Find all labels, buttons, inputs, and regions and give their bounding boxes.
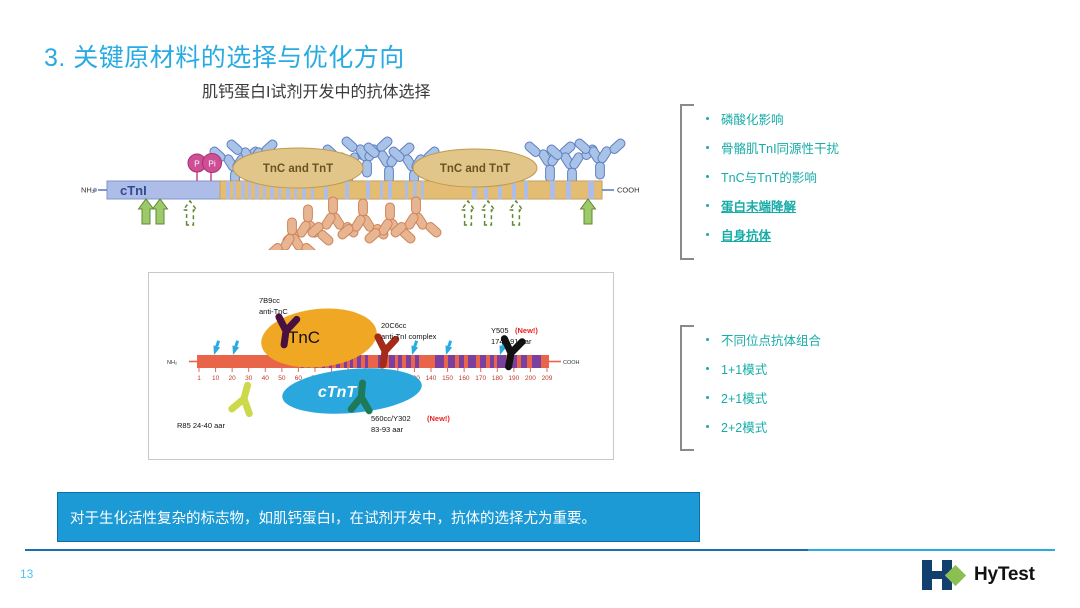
annotation-20c6cc-line1: 20C6cc [381,321,407,330]
bullet-dot-icon [706,146,709,149]
axis-tick-label: 209 [542,375,553,382]
bullet-label: 骨骼肌TnI同源性干扰 [721,138,839,157]
hytest-wordmark: HyTest [974,564,1035,586]
bullet-dot-icon [706,396,709,399]
annotation-y505-new-tag: (New!) [515,326,538,335]
annotation-560cc-line2: 83-93 aar [371,425,404,434]
bullet-dot-icon [706,425,709,428]
figure-top-cooh-label: COOH [617,186,640,195]
annotation-560cc-line1: 560cc/Y302 [371,414,411,423]
list-item[interactable]: 2+1模式 [706,383,920,412]
tnc-label: TnC [288,328,320,347]
annotation-7b9cc-line2: anti-TnC [259,307,288,316]
bullet-dot-icon [706,338,709,341]
bullet-label: 2+2模式 [721,417,767,436]
bullet-dot-icon [706,117,709,120]
page-number: 13 [20,567,33,581]
ctni-bar-label: cTnI [120,183,147,198]
bullet-list: 不同位点抗体组合 1+1模式 2+1模式 2+2模式 [680,325,920,441]
page-subtitle: 肌钙蛋白I试剂开发中的抗体选择 [202,78,430,102]
phospho-label-p: P [194,159,200,169]
group-bracket [680,104,694,260]
bullet-dot-icon [706,204,709,207]
axis-tick-label: 40 [262,375,270,382]
summary-callout-box: 对于生化活性复杂的标志物，如肌钙蛋白I，在试剂开发中，抗体的选择尤为重要。 [57,492,700,542]
list-item[interactable]: 骨骼肌TnI同源性干扰 [706,133,920,162]
axis-tick-label: 150 [442,375,453,382]
footer-divider [25,549,1055,551]
summary-callout-text: 对于生化活性复杂的标志物，如肌钙蛋白I，在试剂开发中，抗体的选择尤为重要。 [58,507,596,528]
bullet-label: 不同位点抗体组合 [721,330,821,349]
antibody-r85-glyph [232,383,256,414]
axis-tick-label: 1 [197,375,201,382]
annotation-r85-line1: R85 24-40 aar [177,421,225,430]
tnc-tnt-label-left: TnC and TnT [263,163,333,175]
ctni-epitope-map-svg: COOH NH₂ cTnI P Pi TnC and TnT TnC and T… [80,100,660,250]
axis-tick-label: 160 [459,375,470,382]
page-title: 3. 关键原材料的选择与优化方向 [44,38,405,74]
bullet-label: TnC与TnT的影响 [721,167,817,186]
annotation-7b9cc-line1: 7B9cc [259,296,280,305]
phospho-label-pi: Pi [208,159,216,169]
annotation-20c6cc-line2: anti-TnI complex [381,332,437,341]
ctni-backbone-bar: COOH NH₂ cTnI [81,181,640,199]
annotation-y505-line2: 174-191 aar [491,337,532,346]
bullet-list: 磷酸化影响 骨骼肌TnI同源性干扰 TnC与TnT的影响 蛋白末端降解 自身抗体 [680,104,920,249]
bullet-dot-icon [706,233,709,236]
tnc-tnt-complex-left: TnC and TnT [233,148,363,188]
annotation-560cc-new-tag: (New!) [427,414,450,423]
axis-tick-label: 20 [229,375,237,382]
axis-tick-label: 50 [278,375,286,382]
axis-tick-label: 140 [426,375,437,382]
axis-tick-label: 190 [508,375,519,382]
list-item[interactable]: 自身抗体 [706,220,920,249]
axis-tick-label: 180 [492,375,503,382]
bullet-dot-icon [706,175,709,178]
antibody-orange-group [265,197,442,250]
ctni-epitope-map-figure: COOH NH₂ cTnI P Pi TnC and TnT TnC and T… [80,100,660,250]
bullet-group-pairing-modes: 不同位点抗体组合 1+1模式 2+1模式 2+2模式 [680,325,920,447]
figure-top-nh2-label: NH₂ [81,186,95,195]
list-item[interactable]: 不同位点抗体组合 [706,325,920,354]
hytest-k-mark-icon [918,557,970,593]
axis-tick-label: 200 [525,375,536,382]
phosphorylation-markers: P Pi [188,154,222,182]
tnc-tnt-label-right: TnC and TnT [440,163,510,175]
annotation-y505-line1: Y505 [491,326,509,335]
list-item[interactable]: 磷酸化影响 [706,104,920,133]
axis-tick-label: 30 [245,375,253,382]
list-item[interactable]: 1+1模式 [706,354,920,383]
bullet-group-challenges: 磷酸化影响 骨骼肌TnI同源性干扰 TnC与TnT的影响 蛋白末端降解 自身抗体 [680,104,920,256]
ctnt-label: cTnT [318,384,357,401]
figure-bottom-nh2-label: NH₂ [167,360,177,366]
axis-tick-label: 170 [475,375,486,382]
bullet-label: 蛋白末端降解 [721,196,796,215]
bullet-label: 磷酸化影响 [721,109,784,128]
group-bracket [680,325,694,451]
hytest-logo: HyTest [918,557,1058,597]
bullet-label: 2+1模式 [721,388,767,407]
bullet-label: 1+1模式 [721,359,767,378]
list-item[interactable]: TnC与TnT的影响 [706,162,920,191]
ctni-sequence-bar: NH₂ COOH [167,355,580,368]
ctni-antibody-binding-sites-svg: NH₂ COOH 1102030405060708090100110120130… [149,273,611,457]
list-item[interactable]: 蛋白末端降解 [706,191,920,220]
axis-tick-label: 10 [212,375,220,382]
list-item[interactable]: 2+2模式 [706,412,920,441]
figure-bottom-cooh-label: COOH [563,360,580,366]
ctni-antibody-binding-sites-figure: NH₂ COOH 1102030405060708090100110120130… [148,272,614,460]
tnc-tnt-complex-right: TnC and TnT [413,149,537,187]
bullet-dot-icon [706,367,709,370]
bullet-label: 自身抗体 [721,225,771,244]
